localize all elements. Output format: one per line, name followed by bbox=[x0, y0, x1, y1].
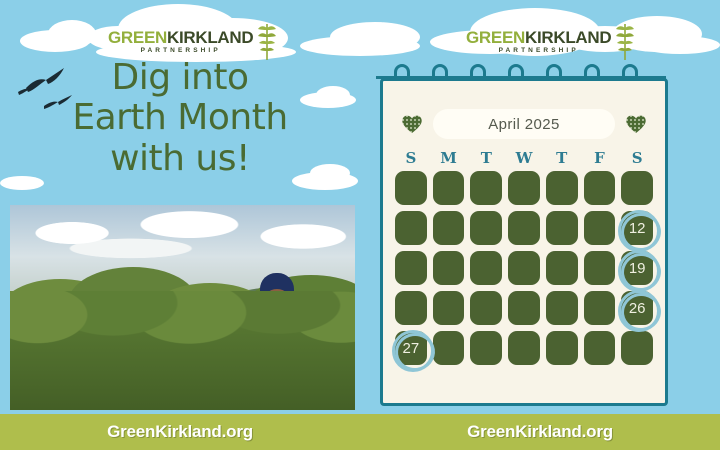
calendar-day[interactable] bbox=[395, 291, 427, 325]
logo-left[interactable]: GREENKIRKLAND PARTNERSHIP bbox=[108, 22, 278, 62]
calendar-day-highlighted[interactable]: 19 bbox=[621, 251, 653, 285]
calendar-day[interactable] bbox=[584, 331, 616, 365]
calendar-day[interactable] bbox=[508, 251, 540, 285]
logo-word-kirkland: KIRKLAND bbox=[167, 28, 253, 47]
day-header-tue: T bbox=[467, 149, 505, 167]
calendar-day-number: 12 bbox=[621, 211, 653, 245]
calendar-day[interactable] bbox=[433, 211, 465, 245]
calendar-day[interactable] bbox=[621, 331, 653, 365]
calendar-day[interactable] bbox=[470, 171, 502, 205]
calendar-day[interactable] bbox=[395, 211, 427, 245]
tree-icon bbox=[256, 22, 278, 62]
calendar-day-number: 19 bbox=[621, 251, 653, 285]
calendar-day[interactable] bbox=[470, 331, 502, 365]
footer-url-right[interactable]: GreenKirkland.org bbox=[467, 422, 613, 442]
calendar-week-row: 26 bbox=[392, 291, 656, 325]
calendar-day[interactable] bbox=[433, 251, 465, 285]
calendar-day[interactable] bbox=[470, 291, 502, 325]
calendar-day[interactable] bbox=[546, 291, 578, 325]
footer-left: GreenKirkland.org bbox=[0, 414, 360, 450]
logo-right[interactable]: GREENKIRKLAND PARTNERSHIP bbox=[466, 22, 636, 62]
calendar-week-row: 12 bbox=[392, 211, 656, 245]
calendar-day-number: 26 bbox=[621, 291, 653, 325]
day-of-week-header: S M T W T F S bbox=[392, 149, 656, 167]
footer-url-left[interactable]: GreenKirkland.org bbox=[107, 422, 253, 442]
logo-word-green: GREEN bbox=[108, 28, 167, 47]
calendar-day[interactable] bbox=[584, 291, 616, 325]
day-header-wed: W bbox=[505, 149, 543, 167]
calendar-day[interactable] bbox=[470, 251, 502, 285]
calendar-day[interactable] bbox=[508, 331, 540, 365]
logo-text: GREENKIRKLAND PARTNERSHIP bbox=[466, 29, 611, 55]
calendar-week-row bbox=[392, 171, 656, 205]
photo-clouds bbox=[10, 205, 355, 275]
calendar-day[interactable] bbox=[395, 171, 427, 205]
calendar-day[interactable] bbox=[433, 291, 465, 325]
calendar-header: April 2025 bbox=[383, 107, 665, 141]
day-header-mon: M bbox=[430, 149, 468, 167]
calendar-day[interactable] bbox=[584, 211, 616, 245]
calendar-day[interactable] bbox=[470, 211, 502, 245]
heart-icon bbox=[625, 114, 647, 134]
tree-icon bbox=[614, 22, 636, 62]
poster-canvas: GREENKIRKLAND PARTNERSHIP GREENKIRKLAND … bbox=[0, 0, 720, 450]
calendar-day-highlighted[interactable]: 12 bbox=[621, 211, 653, 245]
headline-line-1: Dig into bbox=[0, 58, 360, 98]
calendar-grid: 12192627 bbox=[392, 171, 656, 371]
footer-right: GreenKirkland.org bbox=[360, 414, 720, 450]
logo-wordmark: GREENKIRKLAND bbox=[108, 29, 253, 46]
month-title: April 2025 bbox=[488, 116, 560, 133]
headline-line-2: Earth Month bbox=[0, 98, 360, 138]
calendar-day[interactable] bbox=[508, 211, 540, 245]
logo-tagline: PARTNERSHIP bbox=[108, 48, 253, 55]
logo-wordmark: GREENKIRKLAND bbox=[466, 29, 611, 46]
calendar-day[interactable] bbox=[546, 211, 578, 245]
calendar-day[interactable] bbox=[546, 171, 578, 205]
calendar-day[interactable] bbox=[584, 171, 616, 205]
calendar-day[interactable] bbox=[395, 251, 427, 285]
calendar-day[interactable] bbox=[508, 291, 540, 325]
volunteer-photo bbox=[10, 205, 355, 410]
headline-line-3: with us! bbox=[0, 139, 360, 179]
calendar-panel: April 2025 S M T W T F S 12192627 bbox=[380, 78, 668, 406]
logo-tagline: PARTNERSHIP bbox=[466, 48, 611, 55]
day-header-sun: S bbox=[392, 149, 430, 167]
calendar-day-number: 27 bbox=[395, 331, 427, 365]
day-header-sat: S bbox=[618, 149, 656, 167]
heart-icon bbox=[401, 114, 423, 134]
calendar-day[interactable] bbox=[508, 171, 540, 205]
photo-foreground-vegetation bbox=[10, 291, 355, 410]
logo-text: GREENKIRKLAND PARTNERSHIP bbox=[108, 29, 253, 55]
calendar-week-row: 19 bbox=[392, 251, 656, 285]
day-header-thu: T bbox=[543, 149, 581, 167]
logo-word-kirkland: KIRKLAND bbox=[525, 28, 611, 47]
calendar-day[interactable] bbox=[546, 331, 578, 365]
calendar-day-highlighted[interactable]: 27 bbox=[395, 331, 427, 365]
logo-word-green: GREEN bbox=[466, 28, 525, 47]
calendar-day[interactable] bbox=[433, 171, 465, 205]
page-title: Dig into Earth Month with us! bbox=[0, 58, 360, 179]
month-title-pill[interactable]: April 2025 bbox=[433, 109, 615, 139]
calendar-day-highlighted[interactable]: 26 bbox=[621, 291, 653, 325]
calendar-week-row: 27 bbox=[392, 331, 656, 365]
calendar-day[interactable] bbox=[584, 251, 616, 285]
day-header-fri: F bbox=[581, 149, 619, 167]
calendar-day[interactable] bbox=[433, 331, 465, 365]
calendar-day[interactable] bbox=[621, 171, 653, 205]
calendar-day[interactable] bbox=[546, 251, 578, 285]
